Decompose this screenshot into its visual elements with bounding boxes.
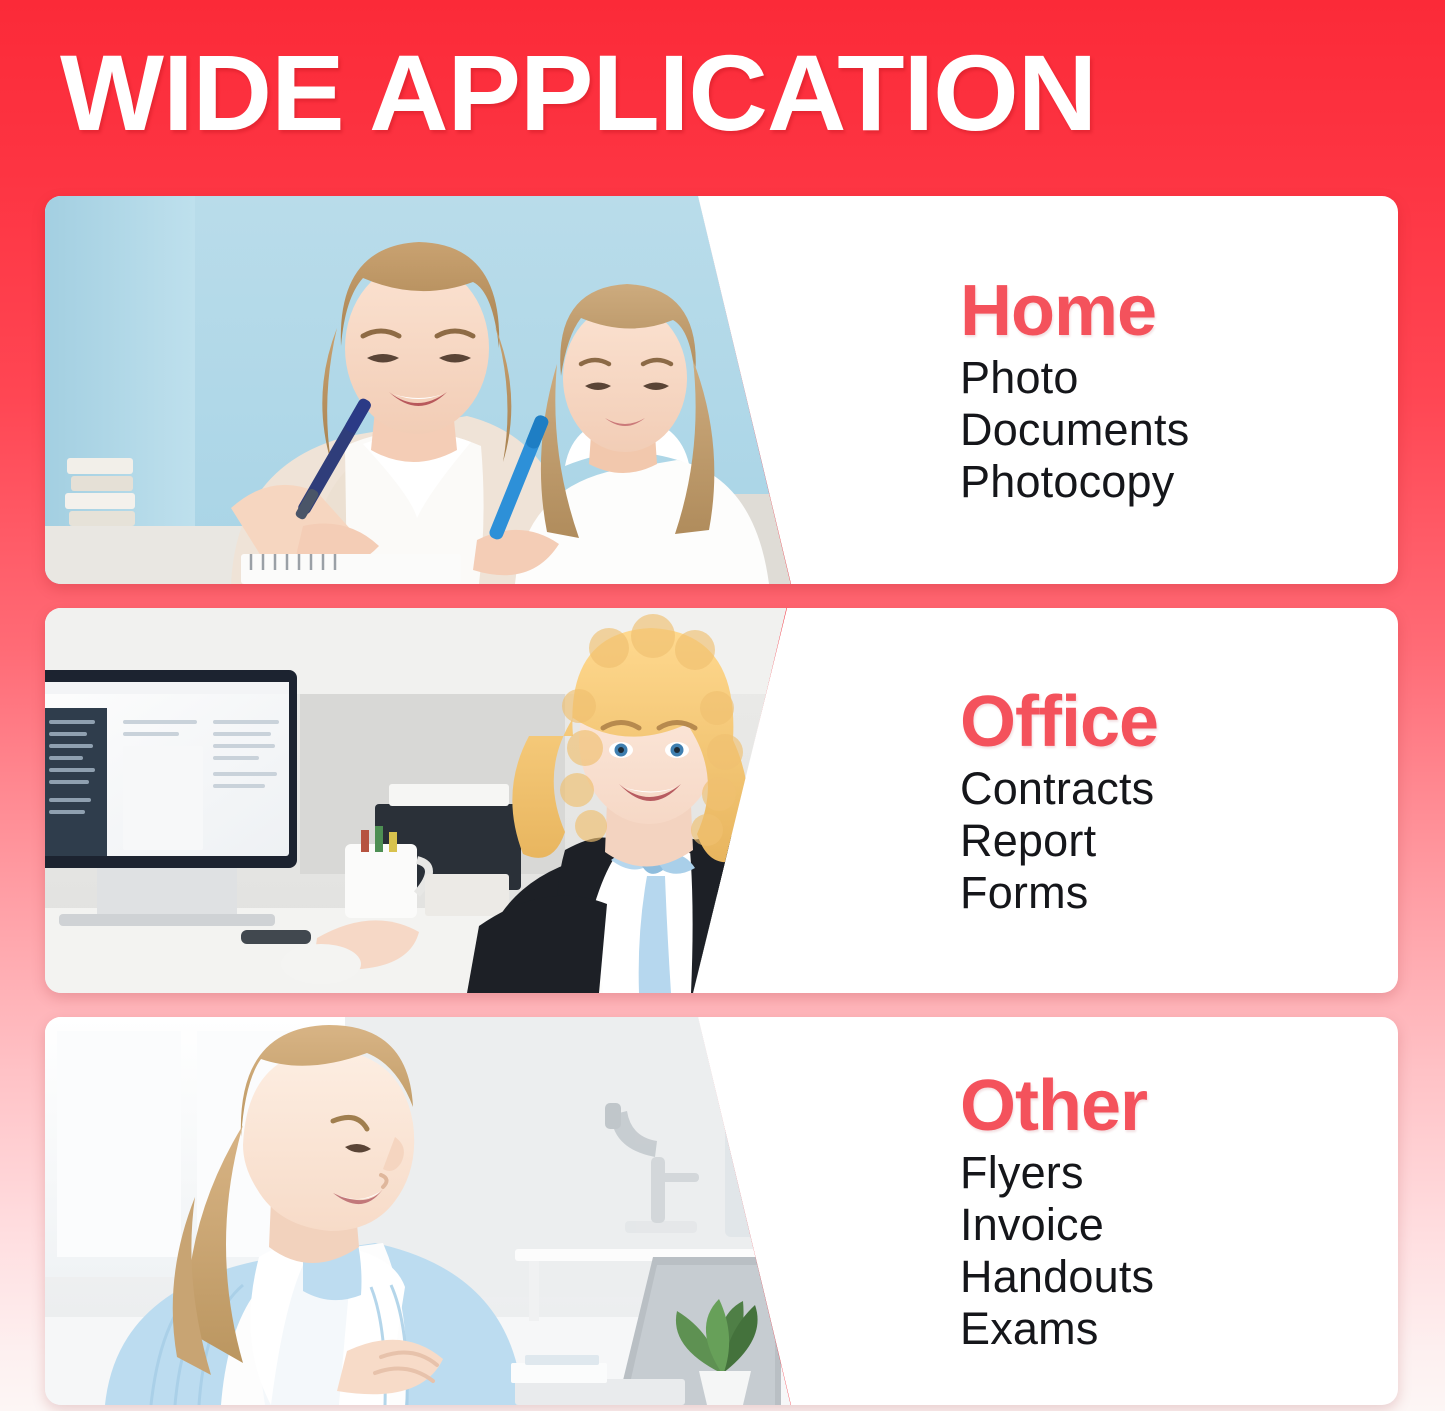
photo-other-illustration — [45, 1017, 845, 1405]
card-other[interactable]: Other Flyers Invoice Handouts Exams — [45, 1017, 1398, 1405]
list-office: Contracts Report Forms — [960, 763, 1390, 919]
text-block-office: Office Contracts Report Forms — [960, 608, 1390, 993]
list-item: Report — [960, 815, 1390, 867]
list-other: Flyers Invoice Handouts Exams — [960, 1147, 1390, 1355]
list-home: Photo Documents Photocopy — [960, 352, 1390, 508]
text-block-home: Home Photo Documents Photocopy — [960, 196, 1390, 584]
photo-home — [45, 196, 845, 584]
list-item: Documents — [960, 404, 1390, 456]
list-item: Contracts — [960, 763, 1390, 815]
list-item: Flyers — [960, 1147, 1390, 1199]
photo-other — [45, 1017, 845, 1405]
list-item: Forms — [960, 867, 1390, 919]
title-banner: WIDE APPLICATION — [0, 0, 1445, 190]
card-office[interactable]: Office Contracts Report Forms — [45, 608, 1398, 993]
heading-other: Other — [960, 1067, 1390, 1145]
list-item: Handouts — [960, 1251, 1390, 1303]
text-block-other: Other Flyers Invoice Handouts Exams — [960, 1017, 1390, 1405]
list-item: Exams — [960, 1303, 1390, 1355]
list-item: Photo — [960, 352, 1390, 404]
card-home[interactable]: Home Photo Documents Photocopy — [45, 196, 1398, 584]
list-item: Invoice — [960, 1199, 1390, 1251]
photo-office — [45, 608, 845, 993]
page-title: WIDE APPLICATION — [60, 40, 1096, 145]
heading-office: Office — [960, 683, 1390, 761]
list-item: Photocopy — [960, 456, 1390, 508]
wide-application-infographic: WIDE APPLICATION — [0, 0, 1445, 1411]
photo-home-illustration — [45, 196, 845, 584]
photo-office-illustration — [45, 608, 845, 993]
heading-home: Home — [960, 272, 1390, 350]
